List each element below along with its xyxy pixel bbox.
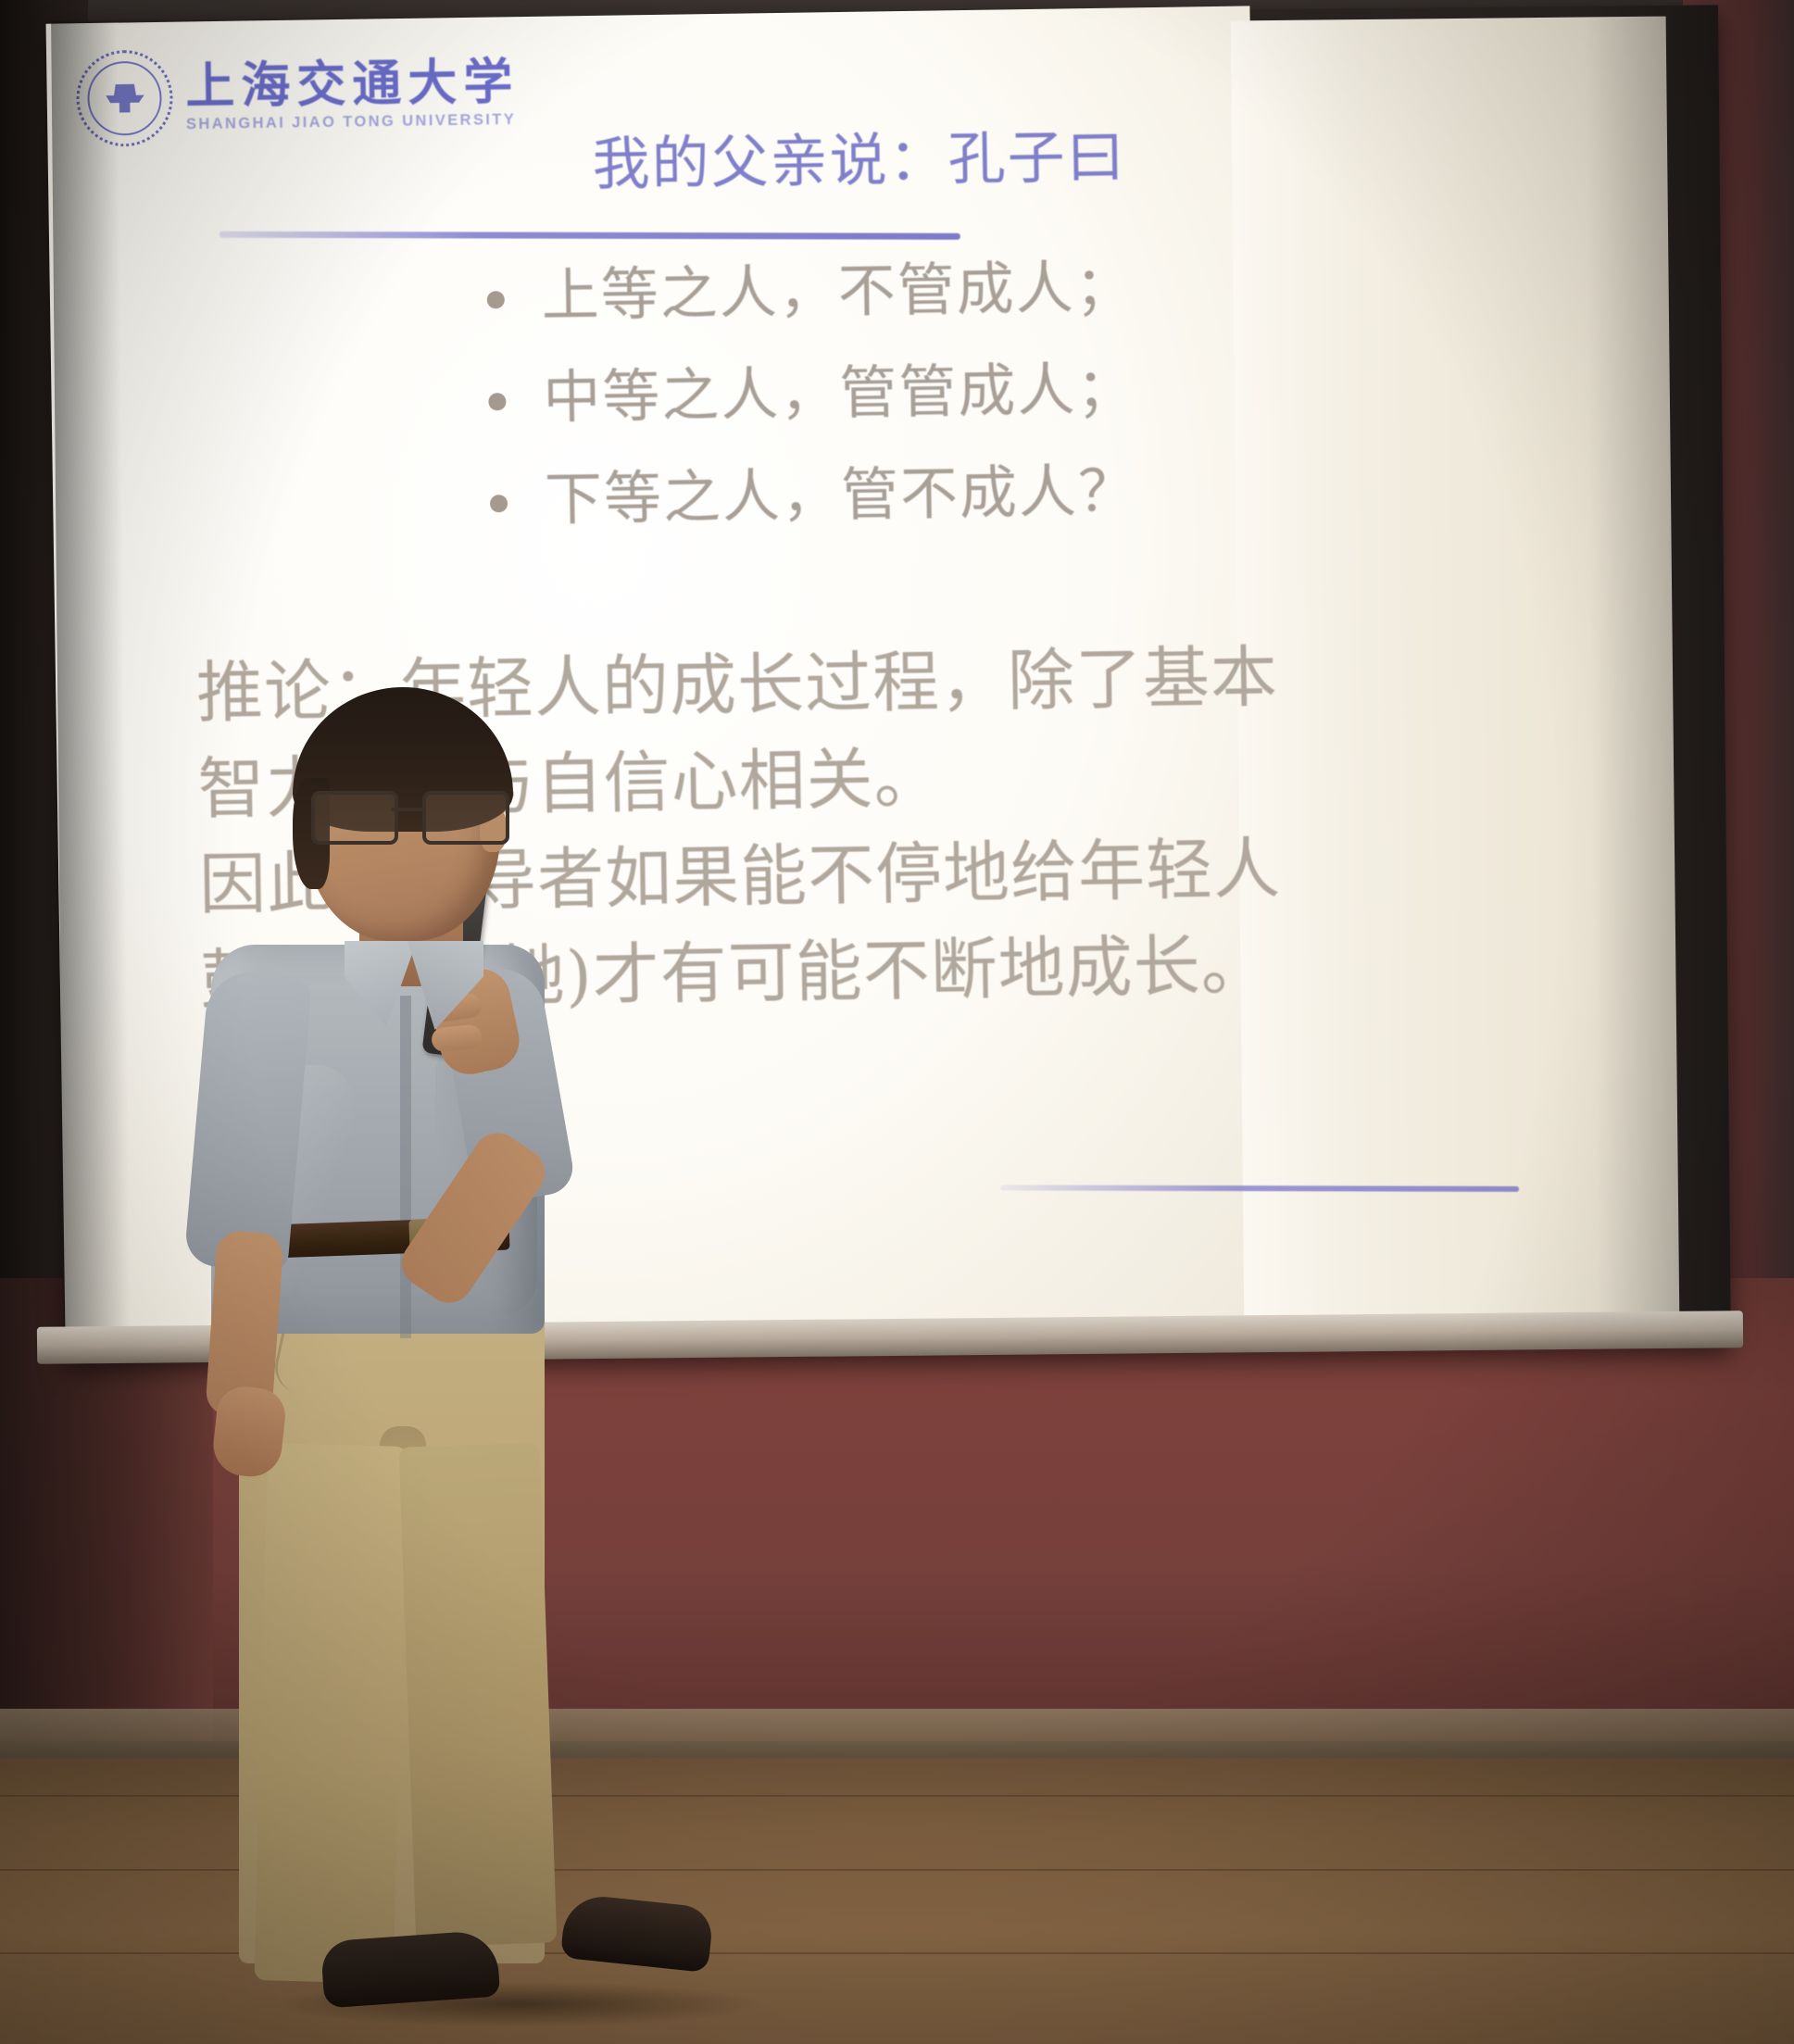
right-lens <box>422 791 509 845</box>
right-leg <box>399 1443 558 1948</box>
right-shoe <box>560 1893 714 1973</box>
speaker <box>0 0 1794 2044</box>
shirt-placket <box>400 996 411 1338</box>
lecture-photo: 上海交通大学 SHANGHAI JIAO TONG UNIVERSITY 我的父… <box>0 0 1794 2044</box>
eyeglasses-icon <box>311 791 502 837</box>
left-lens <box>311 791 398 845</box>
floor-shadow <box>278 1982 759 2026</box>
left-leg <box>254 1443 407 1984</box>
glasses-bridge <box>391 808 422 811</box>
